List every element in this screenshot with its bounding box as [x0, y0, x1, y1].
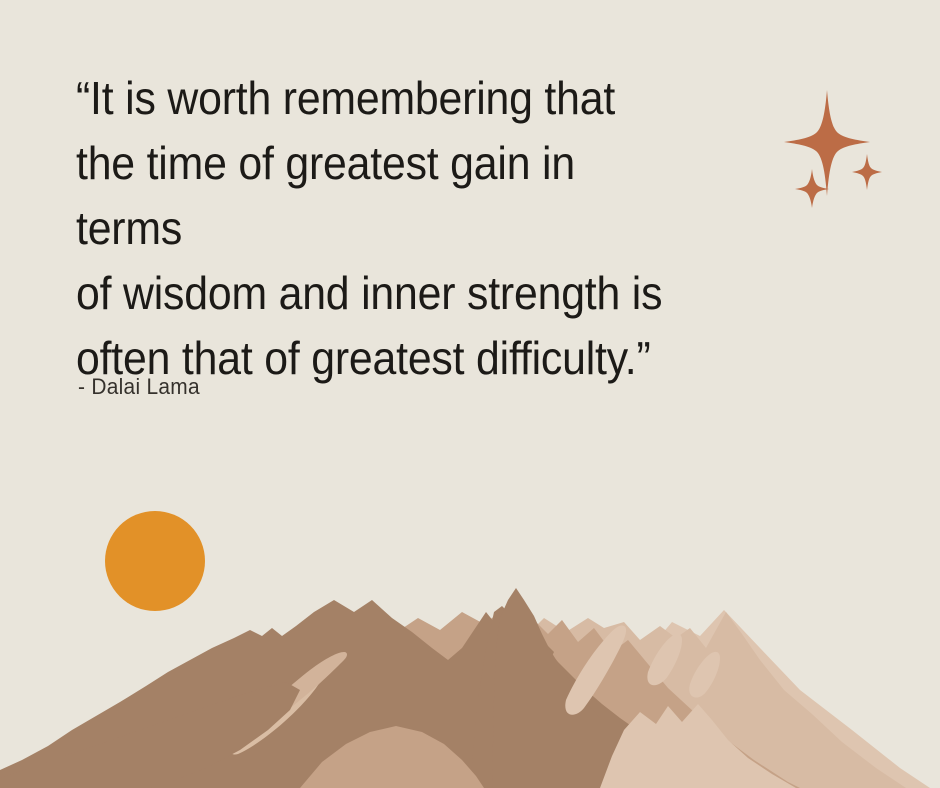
quote-attribution: - Dalai Lama: [78, 373, 200, 401]
four-point-star-icon-small-left: [795, 169, 829, 208]
content-layer: “It is worth remembering that the time o…: [0, 0, 940, 788]
quote-text: “It is worth remembering that the time o…: [76, 66, 690, 391]
sparkle-cluster: [782, 88, 892, 198]
four-point-star-icon-large: [784, 90, 870, 196]
quote-block: “It is worth remembering that the time o…: [76, 66, 736, 391]
four-point-star-icon-small-right: [852, 154, 882, 190]
quote-graphic-canvas: “It is worth remembering that the time o…: [0, 0, 940, 788]
